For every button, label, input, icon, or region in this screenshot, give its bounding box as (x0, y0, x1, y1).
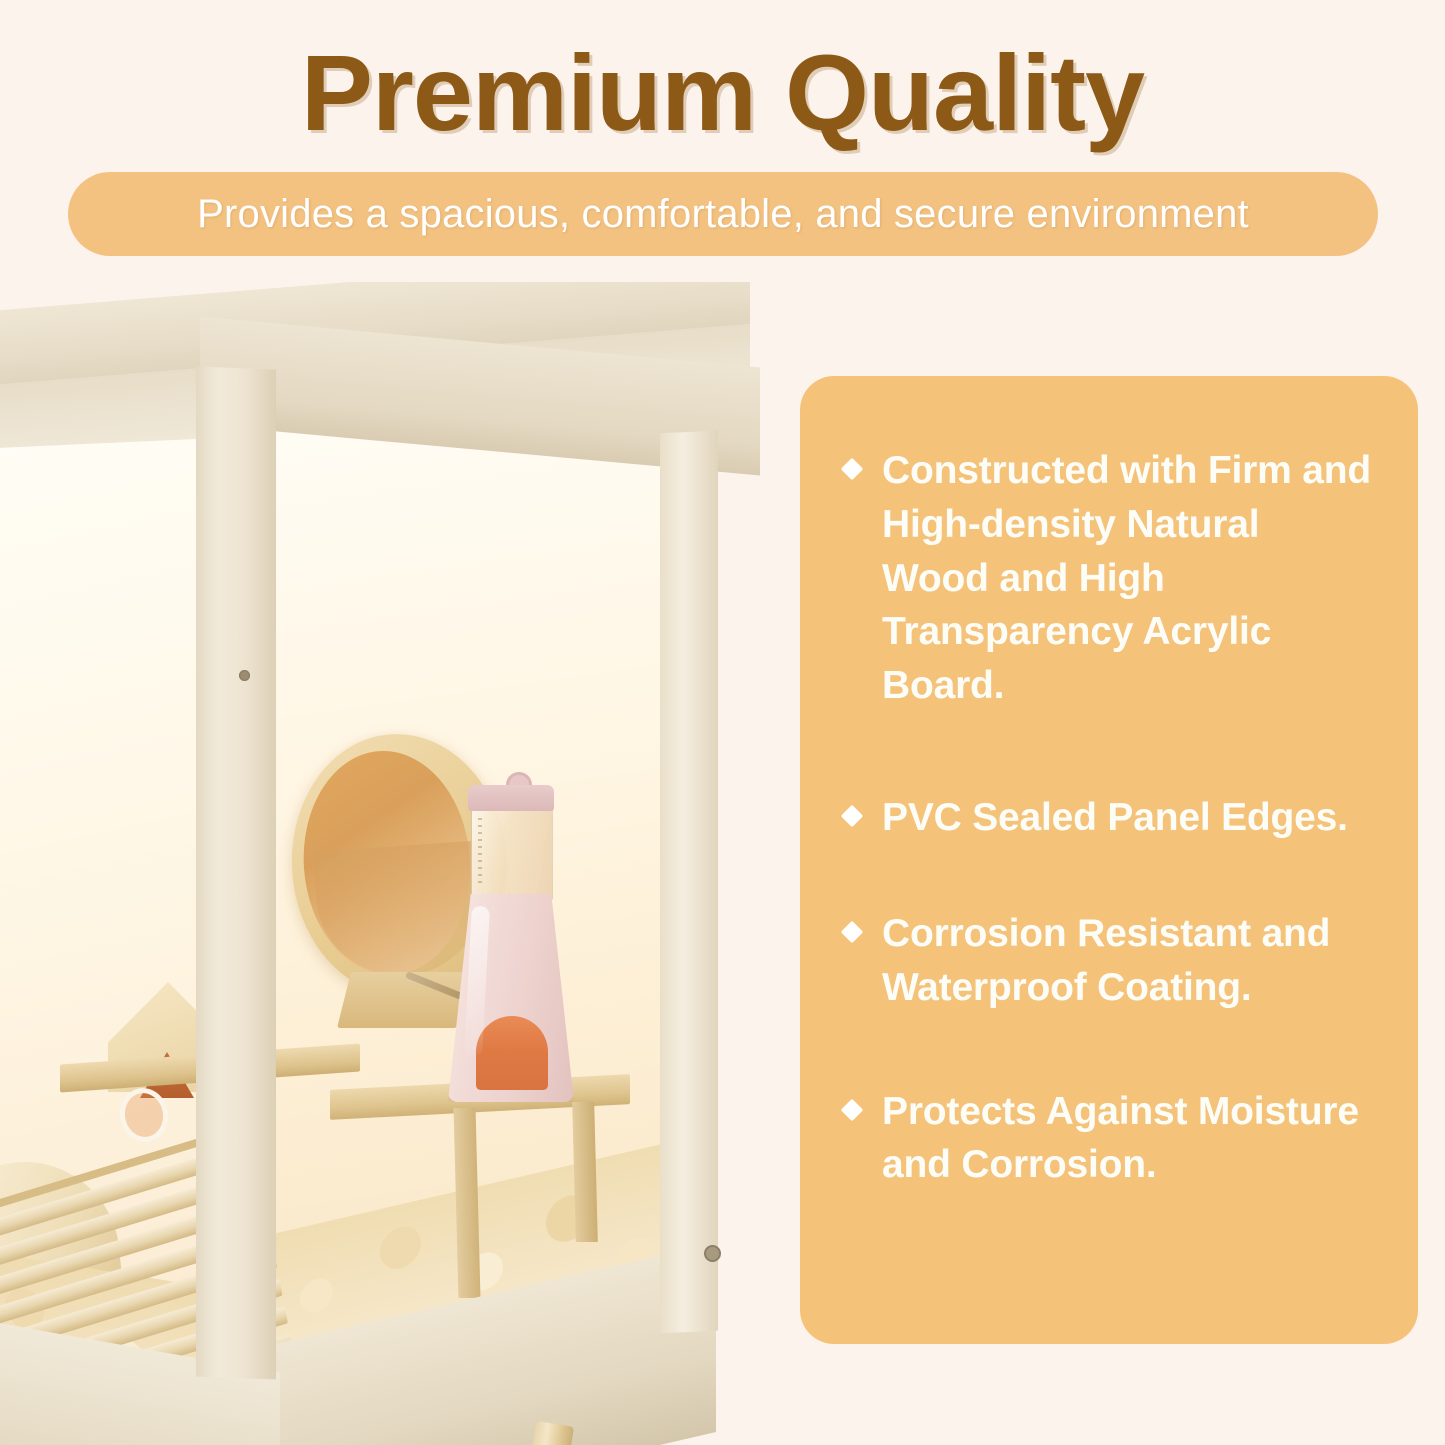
poster-canvas: Premium Quality Provides a spacious, com… (0, 0, 1445, 1445)
page-title: Premium Quality (0, 36, 1445, 149)
feature-item: Protects Against Moisture and Corrosion. (844, 1085, 1376, 1193)
feature-text: Corrosion Resistant and Waterproof Coati… (882, 907, 1376, 1015)
water-bottle-cap (468, 785, 554, 811)
feature-item: Corrosion Resistant and Waterproof Coati… (844, 907, 1376, 1015)
exercise-wheel-stand (337, 972, 471, 1028)
feature-text: Protects Against Moisture and Corrosion. (882, 1085, 1376, 1193)
feature-text: Constructed with Firm and High-density N… (882, 444, 1376, 713)
features-panel: Constructed with Firm and High-density N… (800, 376, 1418, 1344)
subtitle-banner: Provides a spacious, comfortable, and se… (68, 172, 1378, 256)
subtitle-text: Provides a spacious, comfortable, and se… (197, 192, 1249, 237)
feature-text: PVC Sealed Panel Edges. (882, 791, 1348, 845)
diamond-bullet-icon (841, 458, 864, 481)
water-bottle-tube (471, 807, 553, 901)
cage-post-right (660, 431, 718, 1333)
screw-icon (239, 670, 250, 681)
cage-post-left (196, 366, 276, 1379)
feature-item: Constructed with Firm and High-density N… (844, 444, 1376, 713)
diamond-bullet-icon (841, 921, 864, 944)
exercise-wheel-inner (296, 745, 477, 980)
feature-item: PVC Sealed Panel Edges. (844, 791, 1376, 845)
water-bottle-opening (476, 1016, 548, 1090)
screw-icon (704, 1245, 721, 1262)
diamond-bullet-icon (841, 1098, 864, 1121)
platform-shelf-leg (572, 1102, 598, 1242)
exercise-wheel-shadow (313, 840, 490, 981)
product-photo (0, 282, 770, 1445)
diamond-bullet-icon (841, 805, 864, 828)
